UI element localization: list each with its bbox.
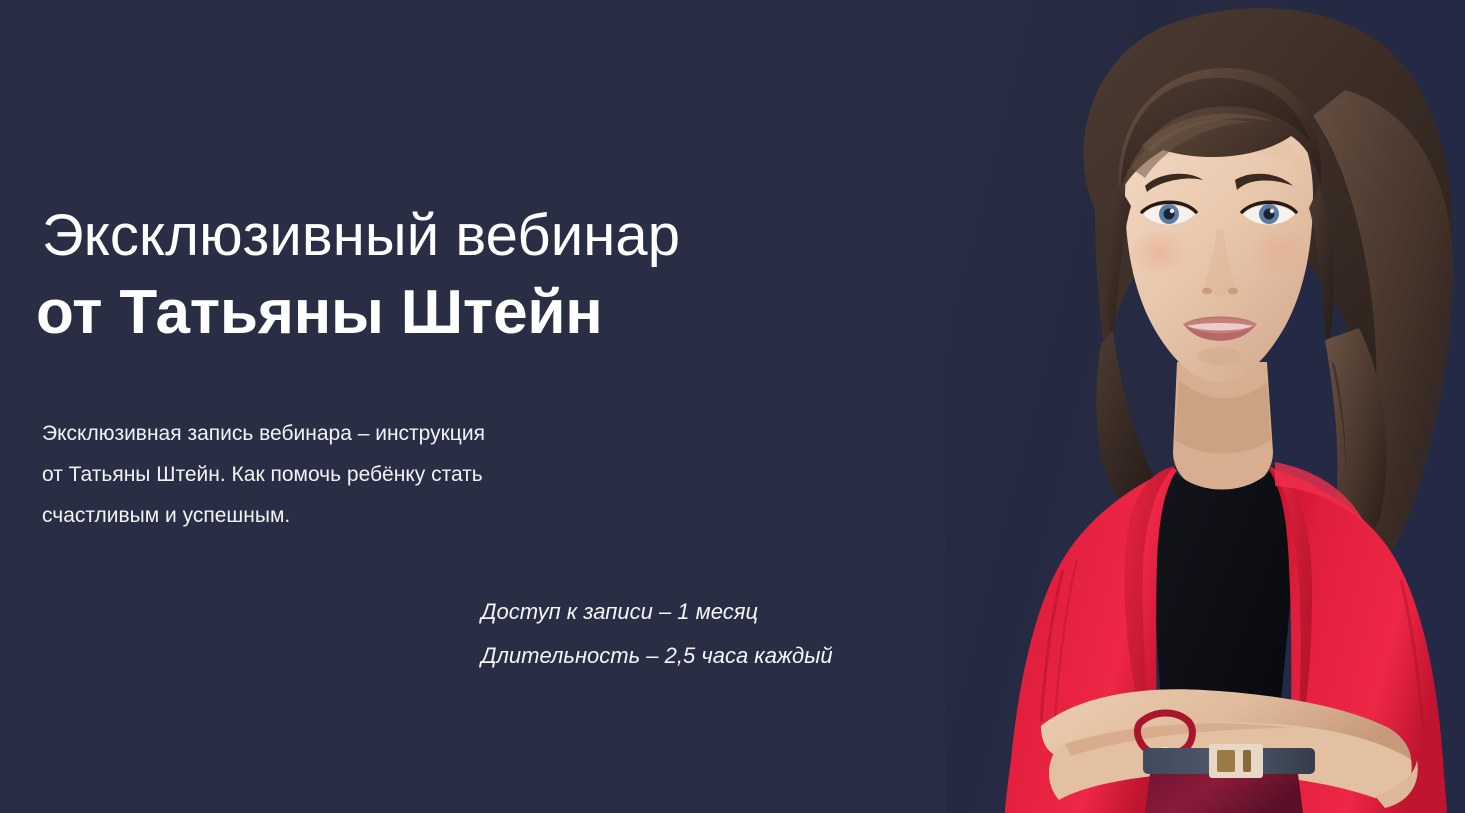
description-line-1: Эксклюзивная запись вебинара – инструкци… [42, 414, 702, 455]
detail-access-period: Доступ к записи – 1 месяц [481, 590, 921, 634]
headline-line-1: Эксклюзивный вебинар [36, 207, 896, 265]
page-title: Эксклюзивный вебинар от Татьяны Штейн [36, 207, 896, 344]
webinar-details-list: Доступ к записи – 1 месяц Длительность –… [481, 590, 921, 678]
webinar-hero-banner: Эксклюзивный вебинар от Татьяны Штейн Эк… [0, 0, 1465, 813]
hero-description: Эксклюзивная запись вебинара – инструкци… [42, 414, 702, 537]
headline-line-2: от Татьяны Штейн [36, 282, 896, 344]
description-line-2: от Татьяны Штейн. Как помочь ребёнку ста… [42, 455, 702, 496]
cta-group: Узнать подробнее [0, 560, 520, 705]
description-line-3: счастливым и успешным. [42, 496, 702, 537]
detail-duration: Длительность – 2,5 часа каждый [481, 634, 921, 678]
presenter-photo [945, 0, 1465, 813]
hero-content: Эксклюзивный вебинар от Татьяны Штейн Эк… [0, 0, 940, 813]
